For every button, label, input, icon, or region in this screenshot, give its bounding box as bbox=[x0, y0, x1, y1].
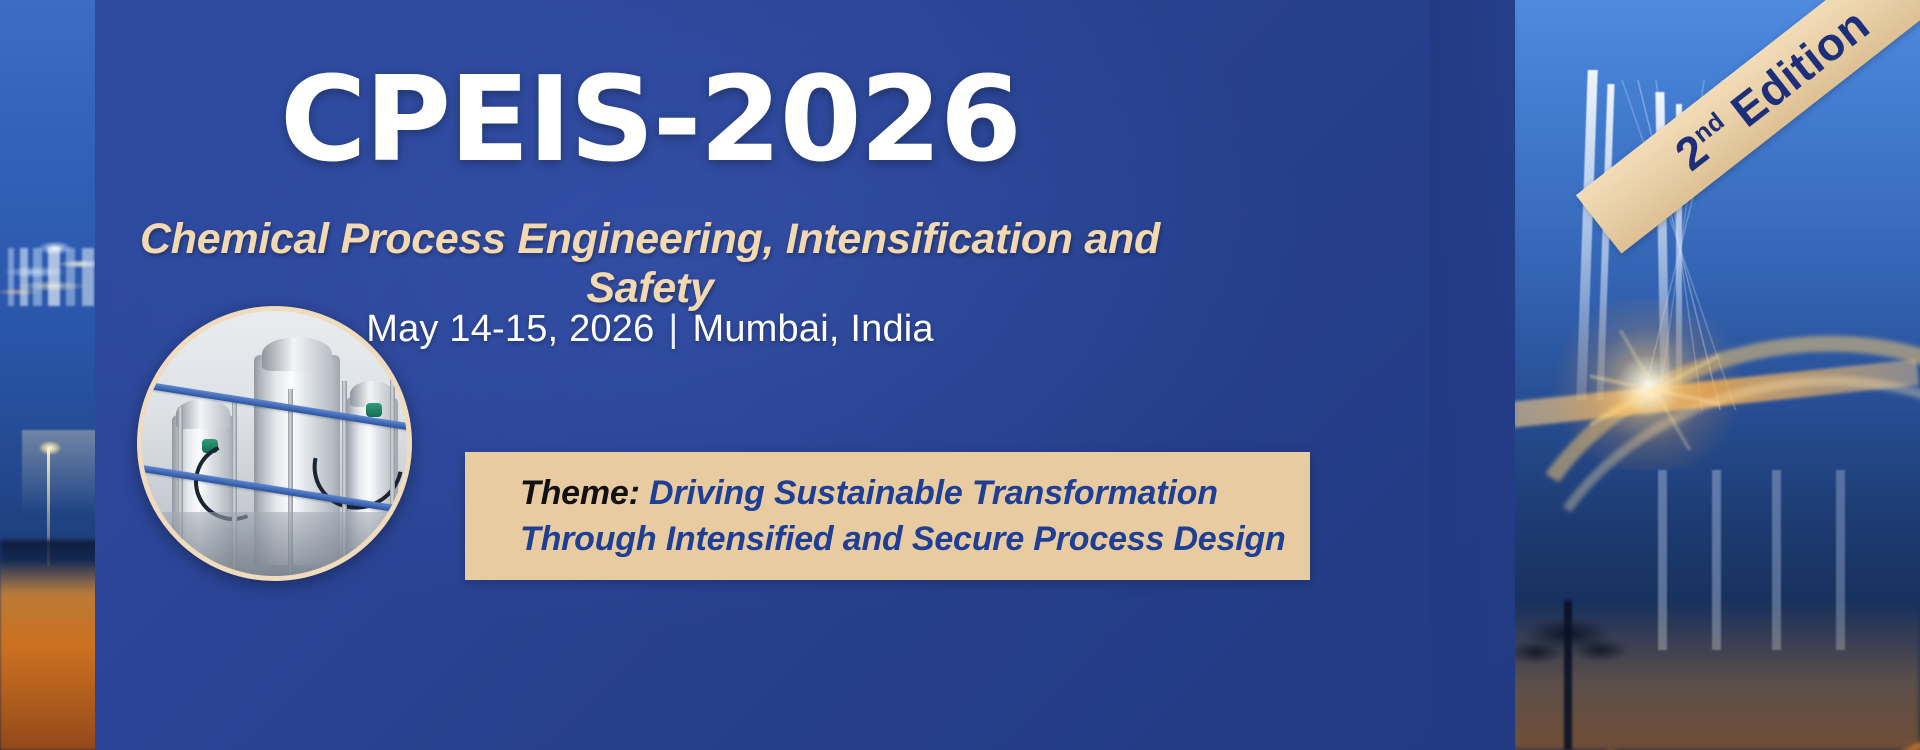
date-location-separator: | bbox=[654, 308, 692, 350]
conference-banner: 2nd Edition CPEIS-2026 Chemical Process … bbox=[0, 0, 1920, 750]
plant-vessel-head-left bbox=[176, 399, 230, 429]
theme-box: Theme: Driving Sustainable Transformatio… bbox=[465, 452, 1310, 580]
banner-content: CPEIS-2026 Chemical Process Engineering,… bbox=[95, 0, 1515, 750]
plant-valve-cap-right bbox=[366, 403, 382, 417]
city-skyline-buildings bbox=[2, 248, 102, 306]
conference-subtitle: Chemical Process Engineering, Intensific… bbox=[95, 215, 1205, 313]
plant-platform-base bbox=[142, 512, 407, 576]
plant-vessel-head-center bbox=[262, 337, 332, 371]
theme-line-2: Through Intensified and Secure Process D… bbox=[520, 520, 1286, 558]
shoreline-lights bbox=[0, 560, 100, 750]
light-burst-rays bbox=[1590, 330, 1720, 450]
conference-title: CPEIS-2026 bbox=[95, 58, 1205, 182]
theme-text: Theme: Driving Sustainable Transformatio… bbox=[520, 470, 1286, 562]
theme-label: Theme: bbox=[520, 474, 640, 512]
chemical-plant-circle-photo bbox=[137, 306, 412, 581]
conference-date: May 14-15, 2026 bbox=[366, 308, 654, 350]
theme-line-1: Driving Sustainable Transformation bbox=[649, 474, 1218, 512]
palm-tree-silhouette bbox=[1508, 600, 1628, 750]
conference-location: Mumbai, India bbox=[692, 308, 933, 350]
